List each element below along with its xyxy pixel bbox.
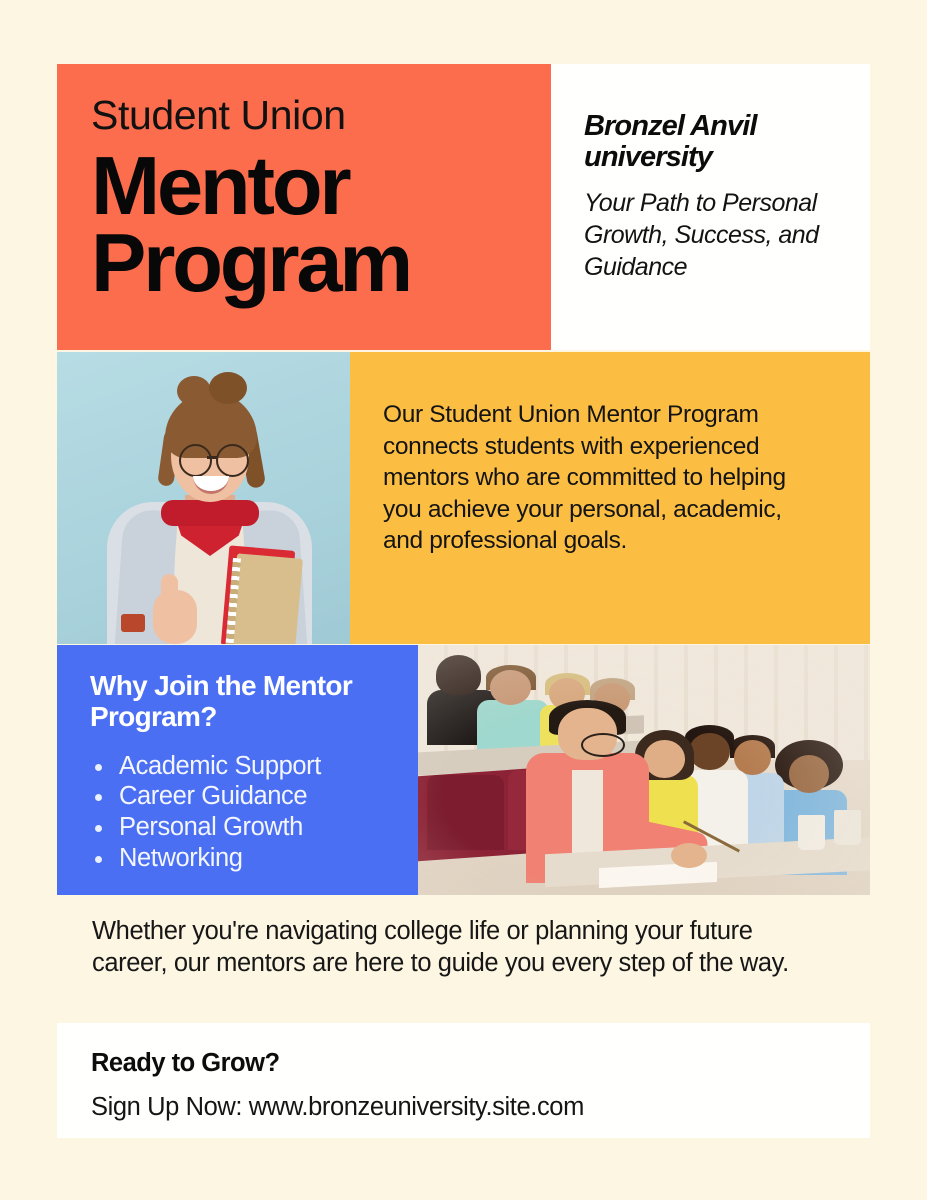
why-join-block: Why Join the Mentor Program? Academic Su… [57, 645, 418, 895]
list-item: Personal Growth [90, 812, 402, 843]
title-block: Student Union MentorProgram [57, 64, 551, 350]
cta-signup-text: Sign Up Now: www.bronzeuniversity.site.c… [91, 1093, 870, 1121]
cta-heading: Ready to Grow? [91, 1049, 870, 1077]
backpack-tag [121, 614, 145, 632]
description-block: Our Student Union Mentor Program connect… [350, 352, 870, 644]
student-photo [57, 352, 350, 644]
brand-block: Bronzel Anvil university Your Path to Pe… [551, 64, 870, 350]
list-item: Career Guidance [90, 781, 402, 812]
glasses-lens-left [179, 444, 212, 477]
thumbs-up-icon [161, 574, 178, 604]
classroom-photo [418, 645, 870, 895]
title-line-2: Program [91, 216, 410, 309]
list-item: Academic Support [90, 751, 402, 782]
description-text: Our Student Union Mentor Program connect… [383, 399, 826, 557]
glasses-lens-right [216, 444, 249, 477]
brand-name: Bronzel Anvil university [584, 111, 850, 172]
classroom-depth-overlay [418, 645, 870, 895]
hair-bun-right [209, 372, 247, 404]
brand-tagline: Your Path to Personal Growth, Success, a… [584, 188, 850, 283]
why-join-heading: Why Join the Mentor Program? [90, 670, 402, 733]
list-item: Networking [90, 843, 402, 874]
page-title: MentorProgram [91, 147, 551, 301]
hair-bun-left [177, 376, 211, 406]
cta-band: Ready to Grow? Sign Up Now: www.bronzeun… [57, 1023, 870, 1138]
poster-canvas: Student Union MentorProgram Bronzel Anvi… [0, 0, 927, 1200]
why-join-list: Academic Support Career Guidance Persona… [90, 751, 402, 873]
red-bandana-knot [161, 500, 259, 526]
closing-paragraph: Whether you're navigating college life o… [92, 915, 832, 980]
kicker-text: Student Union [91, 94, 551, 137]
glasses-bridge [207, 456, 217, 459]
